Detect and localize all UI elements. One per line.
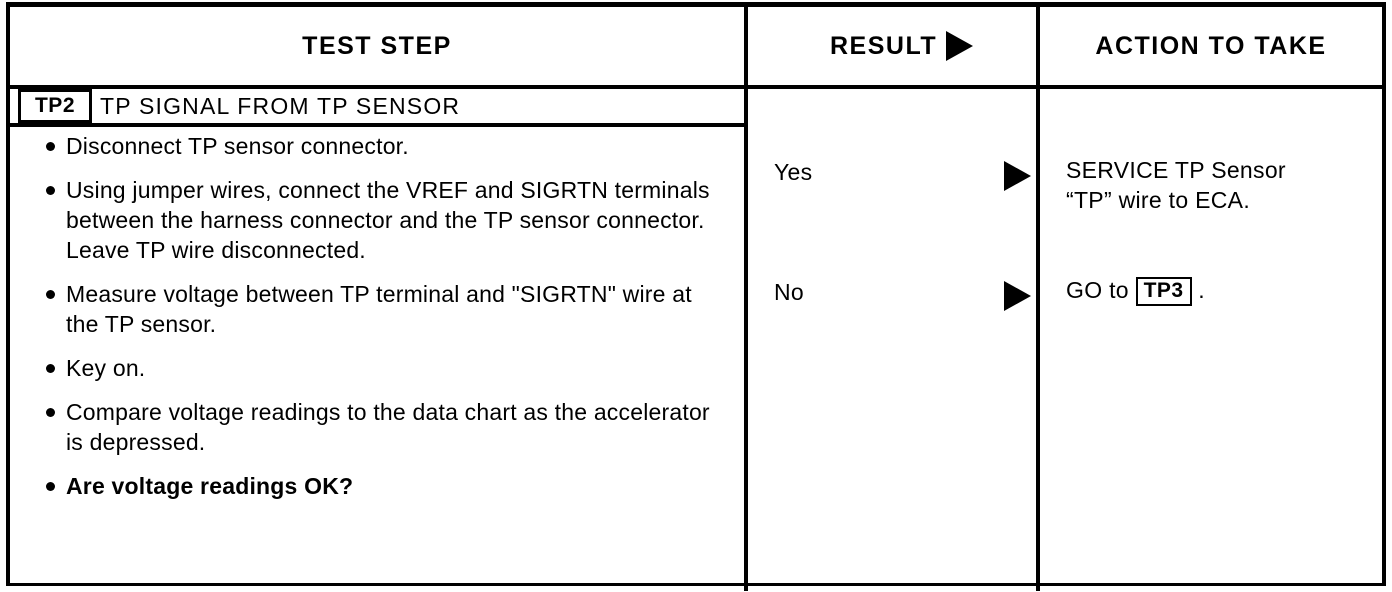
right-triangle-arrow-icon — [1004, 161, 1031, 191]
action-text-no: GO to TP3 . — [1040, 275, 1382, 306]
list-item-text: Key on. — [66, 355, 145, 381]
bullet-icon — [46, 290, 55, 299]
header-test-step: TEST STEP — [10, 7, 744, 85]
action-text-yes: SERVICE TP Sensor “TP” wire to ECA. — [1040, 155, 1382, 215]
action-cell-no: GO to TP3 . — [1040, 275, 1382, 306]
action-cell-yes: SERVICE TP Sensor “TP” wire to ECA. — [1040, 155, 1382, 215]
test-step-list: Disconnect TP sensor connector. Using ju… — [10, 131, 744, 515]
header-result: RESULT — [748, 7, 1036, 85]
diagnostic-table-page: TEST STEP RESULT ACTION TO TAKE TP2 TP S… — [0, 0, 1392, 592]
action-goto-suffix: . — [1198, 277, 1205, 303]
header-action-to-take: ACTION TO TAKE — [1040, 7, 1382, 85]
result-cell-yes: Yes — [748, 155, 1036, 195]
list-item: Measure voltage between TP terminal and … — [10, 279, 744, 339]
list-item-text: Disconnect TP sensor connector. — [66, 133, 409, 159]
list-item: Disconnect TP sensor connector. — [10, 131, 744, 161]
bullet-icon — [46, 142, 55, 151]
subheader-bottom-rule — [10, 123, 744, 127]
action-line-goto: GO to TP3 . — [1066, 275, 1372, 306]
result-cell-no: No — [748, 275, 1036, 315]
bullet-icon — [46, 186, 55, 195]
right-triangle-arrow-icon — [946, 31, 973, 61]
bullet-icon — [46, 364, 55, 373]
test-step-reference-link[interactable]: TP3 — [1136, 277, 1192, 306]
result-label-no: No — [774, 279, 804, 306]
test-step-title: TP SIGNAL FROM TP SENSOR — [100, 89, 460, 123]
list-item-text: Compare voltage readings to the data cha… — [66, 399, 710, 455]
list-item: Compare voltage readings to the data cha… — [10, 397, 744, 457]
test-step-id-badge: TP2 — [18, 89, 92, 123]
list-item-text: Using jumper wires, connect the VREF and… — [66, 177, 710, 263]
list-item: Key on. — [10, 353, 744, 383]
test-step-subheader: TP2 TP SIGNAL FROM TP SENSOR — [10, 89, 744, 125]
bullet-icon — [46, 408, 55, 417]
list-item: Using jumper wires, connect the VREF and… — [10, 175, 744, 265]
list-item: Are voltage readings OK? — [10, 471, 744, 501]
action-line-1: SERVICE TP Sensor — [1066, 155, 1372, 185]
result-label-yes: Yes — [774, 159, 812, 186]
header-result-label: RESULT — [830, 32, 937, 61]
diagnostic-table: TEST STEP RESULT ACTION TO TAKE TP2 TP S… — [6, 2, 1386, 586]
list-item-text: Measure voltage between TP terminal and … — [66, 281, 692, 337]
action-goto-prefix: GO to — [1066, 277, 1129, 303]
list-item-text: Are voltage readings OK? — [66, 473, 353, 499]
action-line-2: “TP” wire to ECA. — [1066, 185, 1372, 215]
bullet-icon — [46, 482, 55, 491]
table-header-row: TEST STEP RESULT ACTION TO TAKE — [10, 7, 1382, 85]
right-triangle-arrow-icon — [1004, 281, 1031, 311]
